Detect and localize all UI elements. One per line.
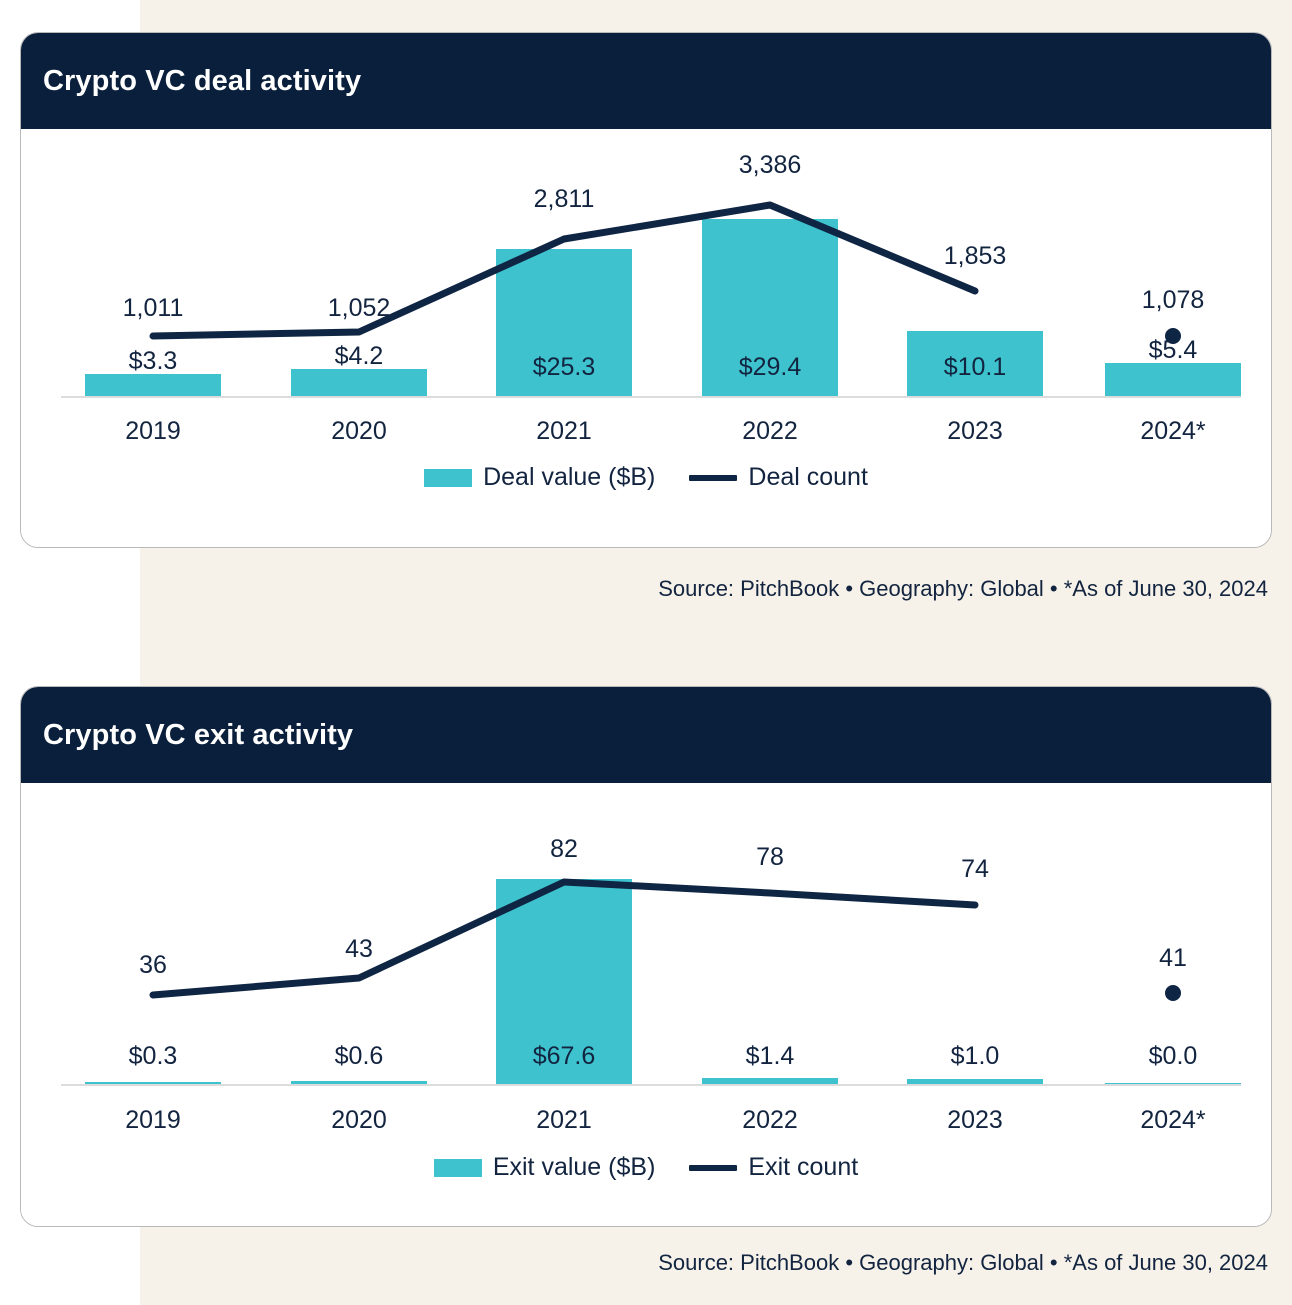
x-tick-exit-2020: 2020 — [289, 1106, 429, 1135]
line-swatch-icon — [689, 475, 737, 481]
line-label-deal-2024: 1,078 — [1103, 286, 1243, 315]
bar-label-deal-2019: $3.3 — [83, 347, 223, 376]
bar-label-deal-2021: $25.3 — [494, 353, 634, 382]
line-label-exit-2019: 36 — [83, 951, 223, 980]
page-title-exit: Crypto VC exit activity — [43, 719, 353, 752]
x-tick-exit-2019: 2019 — [83, 1106, 223, 1135]
line-label-deal-2020: 1,052 — [289, 294, 429, 323]
bar-label-deal-2020: $4.2 — [289, 342, 429, 371]
legend-deal: Deal value ($B) Deal count — [21, 463, 1271, 492]
bar-deal-2019 — [85, 374, 221, 397]
line-label-exit-2024: 41 — [1103, 944, 1243, 973]
legend-label-deal-count: Deal count — [748, 463, 868, 492]
source-note-exit: Source: PitchBook • Geography: Global • … — [658, 1250, 1268, 1276]
line-label-deal-2022: 3,386 — [700, 151, 840, 180]
line-label-deal-2019: 1,011 — [83, 294, 223, 323]
legend-item-deal-value[interactable]: Deal value ($B) — [424, 463, 655, 492]
card-header-deal: Crypto VC deal activity — [21, 33, 1271, 129]
bar-label-deal-2022: $29.4 — [700, 353, 840, 382]
bar-swatch-icon — [424, 469, 472, 487]
legend-label-exit-value: Exit value ($B) — [493, 1153, 656, 1182]
line-label-exit-2022: 78 — [700, 843, 840, 872]
line-label-deal-2023: 1,853 — [905, 242, 1045, 271]
plot-area-deal: 1,011 1,052 2,811 3,386 1,853 1,078 $3.3… — [21, 129, 1271, 547]
bar-label-exit-2023: $1.0 — [905, 1042, 1045, 1071]
legend-exit: Exit value ($B) Exit count — [21, 1153, 1271, 1182]
source-note-deal: Source: PitchBook • Geography: Global • … — [658, 576, 1268, 602]
x-tick-deal-2021: 2021 — [494, 417, 634, 446]
x-tick-deal-2024: 2024* — [1103, 417, 1243, 446]
line-label-exit-2023: 74 — [905, 855, 1045, 884]
x-tick-exit-2022: 2022 — [700, 1106, 840, 1135]
plot-area-exit: 36 43 82 78 74 41 $0.3 $0.6 $67.6 $1.4 $… — [21, 783, 1271, 1226]
line-label-deal-2021: 2,811 — [494, 185, 634, 214]
x-axis-line-deal — [61, 396, 1241, 398]
bar-label-deal-2024: $5.4 — [1103, 336, 1243, 365]
x-tick-exit-2021: 2021 — [494, 1106, 634, 1135]
x-tick-deal-2019: 2019 — [83, 417, 223, 446]
chart-card-exit-activity: Crypto VC exit activity 36 43 82 78 74 4 — [20, 686, 1272, 1227]
x-tick-deal-2022: 2022 — [700, 417, 840, 446]
line-label-exit-2021: 82 — [494, 835, 634, 864]
legend-item-exit-count[interactable]: Exit count — [689, 1153, 858, 1182]
legend-label-deal-value: Deal value ($B) — [483, 463, 655, 492]
legend-item-deal-count[interactable]: Deal count — [689, 463, 868, 492]
x-axis-line-exit — [61, 1084, 1241, 1086]
bar-label-exit-2021: $67.6 — [494, 1042, 634, 1071]
line-label-exit-2020: 43 — [289, 935, 429, 964]
x-tick-deal-2023: 2023 — [905, 417, 1045, 446]
legend-label-exit-count: Exit count — [748, 1153, 858, 1182]
bar-label-exit-2020: $0.6 — [289, 1042, 429, 1071]
chart-card-deal-activity: Crypto VC deal activity 1,011 1,052 2,81… — [20, 32, 1272, 548]
page-root: Crypto VC deal activity 1,011 1,052 2,81… — [0, 0, 1292, 1305]
bar-swatch-icon — [434, 1159, 482, 1177]
bar-label-deal-2023: $10.1 — [905, 353, 1045, 382]
line-swatch-icon — [689, 1165, 737, 1171]
bar-deal-2020 — [291, 369, 427, 397]
bar-label-exit-2022: $1.4 — [700, 1042, 840, 1071]
x-tick-deal-2020: 2020 — [289, 417, 429, 446]
x-tick-exit-2023: 2023 — [905, 1106, 1045, 1135]
page-title-deal: Crypto VC deal activity — [43, 65, 361, 98]
legend-item-exit-value[interactable]: Exit value ($B) — [434, 1153, 656, 1182]
x-tick-exit-2024: 2024* — [1103, 1106, 1243, 1135]
bar-deal-2024 — [1105, 363, 1241, 397]
card-header-exit: Crypto VC exit activity — [21, 687, 1271, 783]
bar-label-exit-2019: $0.3 — [83, 1042, 223, 1071]
bar-label-exit-2024: $0.0 — [1103, 1042, 1243, 1071]
